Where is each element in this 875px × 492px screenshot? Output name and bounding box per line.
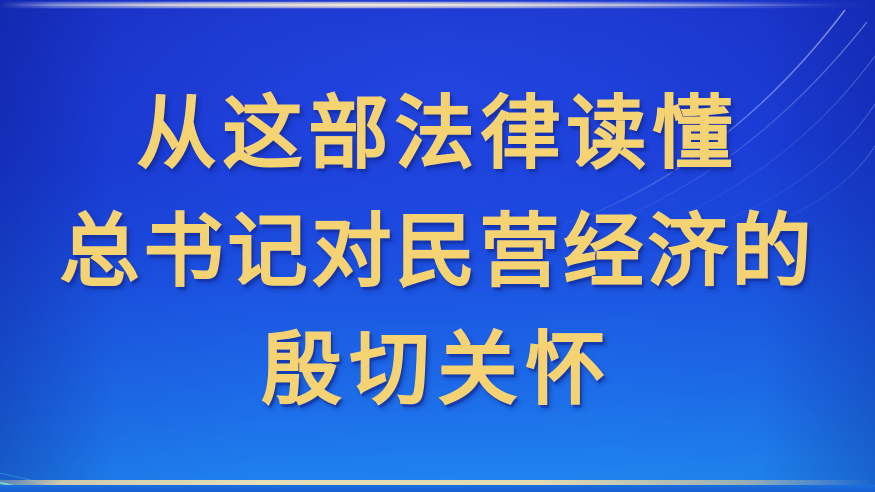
title-line-3: 殷切关怀 bbox=[262, 310, 614, 428]
title-line-1: 从这部法律读懂 bbox=[137, 74, 739, 192]
title-line-2: 总书记对民营经济的 bbox=[60, 192, 816, 310]
poster-headline: 从这部法律读懂 总书记对民营经济的 殷切关怀 bbox=[0, 0, 875, 492]
poster-canvas: 从这部法律读懂 总书记对民营经济的 殷切关怀 bbox=[0, 0, 875, 492]
